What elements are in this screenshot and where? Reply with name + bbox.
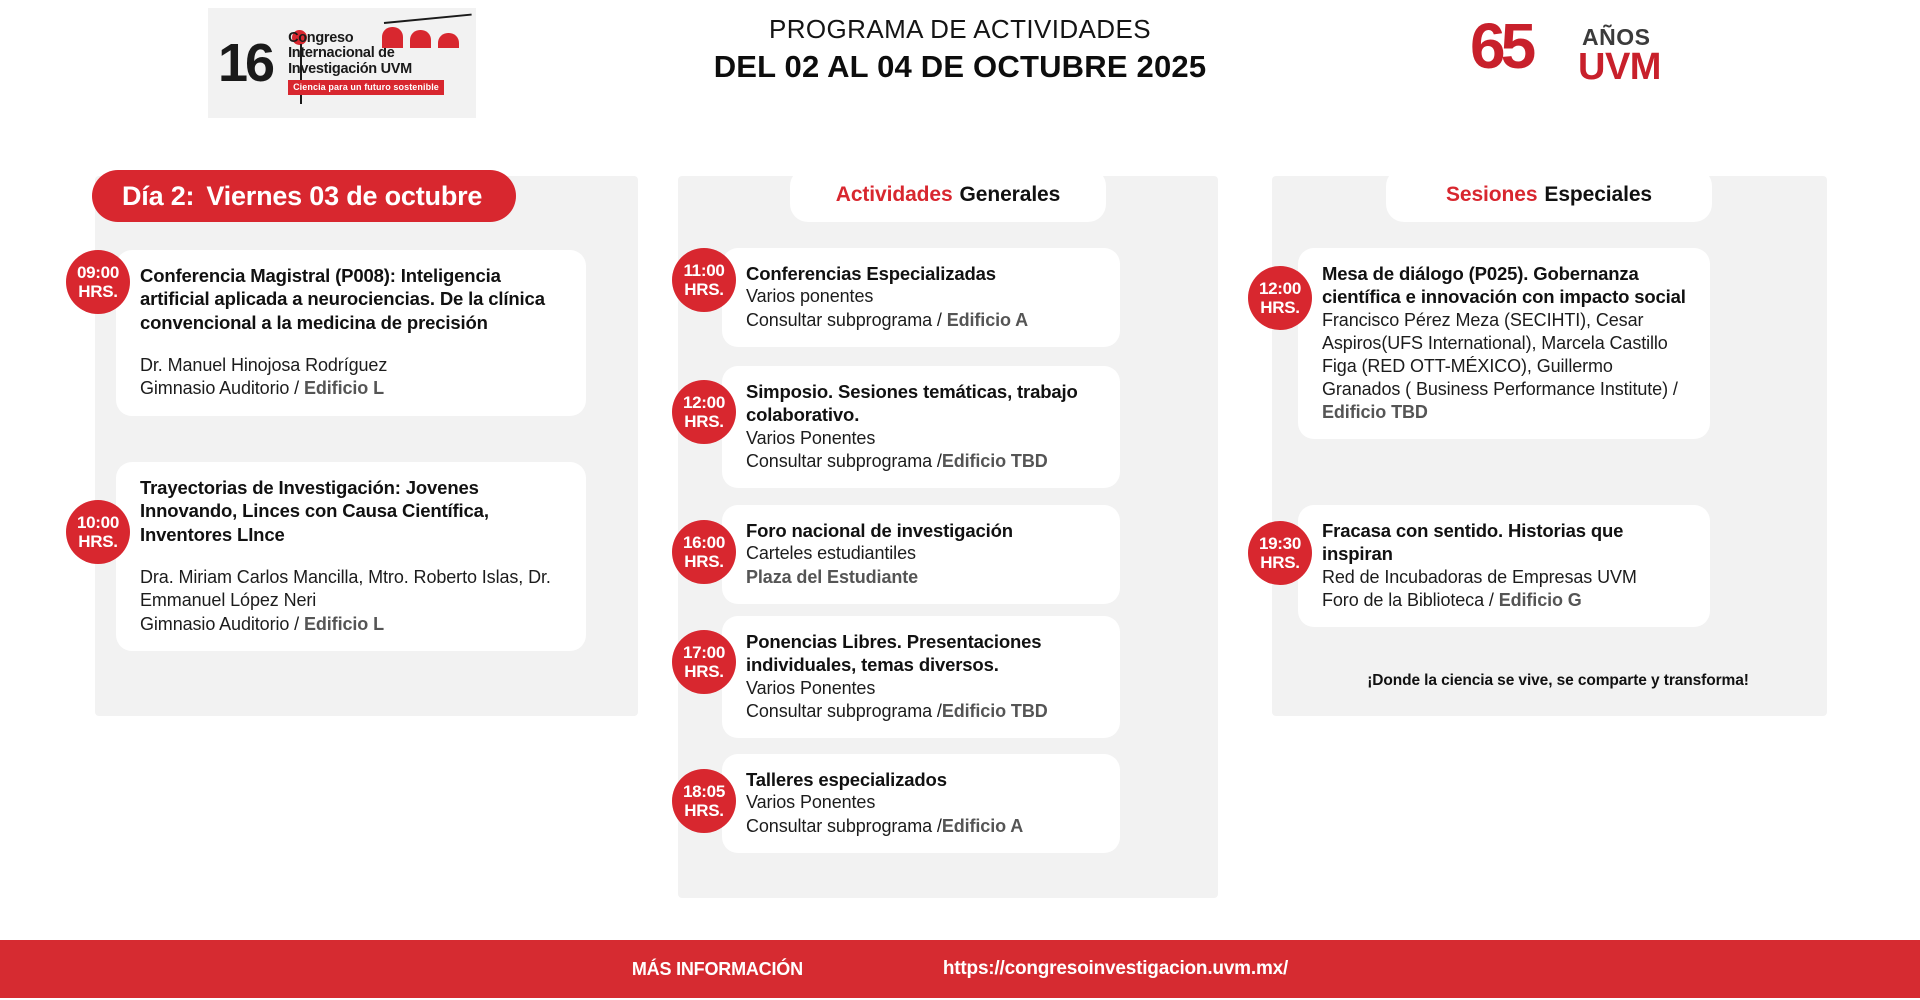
event-title: Fracasa con sentido. Historias que inspi… — [1322, 519, 1690, 566]
event-card: Mesa de diálogo (P025). Gobernanza cient… — [1298, 248, 1710, 439]
header: 16 Congreso Internacional de Investigaci… — [0, 0, 1920, 125]
event-speakers: Varios ponentes — [746, 285, 1100, 308]
time-badge-time: 19:30 — [1259, 534, 1301, 553]
time-badge: 12:00 HRS. — [672, 380, 736, 444]
time-badge-time: 12:00 — [1259, 279, 1301, 298]
anniversary-logo-number: 65 — [1470, 14, 1531, 78]
page-title-line-1: PROGRAMA DE ACTIVIDADES — [560, 14, 1360, 46]
anniversary-logo: 65 AÑOS UVM — [1470, 18, 1690, 98]
event-title: Mesa de diálogo (P025). Gobernanza cient… — [1322, 262, 1690, 309]
event-venue: Francisco Pérez Meza (SECIHTI), Cesar As… — [1322, 309, 1690, 424]
event-speakers: Red de Incubadoras de Empresas UVM — [1322, 566, 1690, 589]
time-badge-time: 10:00 — [77, 513, 119, 532]
footer-website-link[interactable]: https://congresoinvestigacion.uvm.mx/ — [943, 958, 1288, 980]
event-card: Talleres especializados Varios Ponentes … — [722, 754, 1120, 853]
event-venue-building: Edificio TBD — [942, 701, 1048, 721]
event-card: Fracasa con sentido. Historias que inspi… — [1298, 505, 1710, 627]
event-venue-plain: Consultar subprograma / — [746, 310, 947, 330]
event-venue-plain: Consultar subprograma / — [746, 701, 942, 721]
page-title: PROGRAMA DE ACTIVIDADES DEL 02 AL 04 DE … — [560, 14, 1360, 85]
congress-logo: 16 Congreso Internacional de Investigaci… — [208, 8, 476, 118]
time-badge-time: 17:00 — [683, 643, 725, 662]
event-row[interactable]: 16:00 HRS. Foro nacional de investigació… — [672, 505, 1120, 604]
heading-general-red: Actividades — [836, 183, 953, 207]
event-speakers: Carteles estudiantiles — [746, 542, 1100, 565]
event-card: Trayectorias de Investigación: Jovenes I… — [116, 462, 586, 651]
event-venue: Gimnasio Auditorio / Edificio L — [140, 377, 566, 400]
event-venue-building: Edificio TBD — [1322, 402, 1428, 422]
day-badge-label: Día 2: — [122, 181, 194, 212]
event-speakers: Dra. Miriam Carlos Mancilla, Mtro. Rober… — [140, 566, 566, 612]
event-title: Trayectorias de Investigación: Jovenes I… — [140, 476, 566, 546]
event-venue-plain: Gimnasio Auditorio / — [140, 378, 304, 398]
time-badge: 09:00 HRS. — [66, 250, 130, 314]
time-badge: 12:00 HRS. — [1248, 266, 1312, 330]
event-venue-building: Edificio L — [304, 614, 384, 634]
time-badge: 19:30 HRS. — [1248, 521, 1312, 585]
day-badge: Día 2: Viernes 03 de octubre — [92, 170, 516, 222]
event-venue-building: Plaza del Estudiante — [746, 567, 918, 587]
event-row[interactable]: 09:00 HRS. Conferencia Magistral (P008):… — [66, 250, 586, 416]
arches-icon — [382, 22, 468, 48]
special-sessions-tagline: ¡Donde la ciencia se vive, se comparte y… — [1318, 672, 1798, 690]
event-venue-plain: Consultar subprograma / — [746, 816, 942, 836]
congress-logo-line-2: Internacional de — [288, 46, 444, 61]
time-badge-unit: HRS. — [1260, 298, 1299, 317]
event-card: Conferencia Magistral (P008): Inteligenc… — [116, 250, 586, 416]
time-badge-time: 09:00 — [77, 263, 119, 282]
heading-special-black: Especiales — [1544, 183, 1652, 207]
event-title: Talleres especializados — [746, 768, 1100, 791]
heading-general-black: Generales — [960, 183, 1061, 207]
event-venue: Gimnasio Auditorio / Edificio L — [140, 613, 566, 636]
event-card: Ponencias Libres. Presentaciones individ… — [722, 616, 1120, 738]
time-badge-unit: HRS. — [684, 801, 723, 820]
event-venue-plain: Gimnasio Auditorio / — [140, 614, 304, 634]
day-badge-value: Viernes 03 de octubre — [206, 181, 482, 212]
event-card: Foro nacional de investigación Carteles … — [722, 505, 1120, 604]
anniversary-logo-institution: UVM — [1578, 46, 1661, 89]
event-venue-building: Edificio A — [942, 816, 1023, 836]
event-venue-building: Edificio G — [1499, 590, 1582, 610]
event-venue-plain: Consultar subprograma / — [746, 451, 942, 471]
event-row[interactable]: 12:00 HRS. Mesa de diálogo (P025). Gober… — [1248, 248, 1710, 439]
time-badge: 18:05 HRS. — [672, 769, 736, 833]
time-badge-unit: HRS. — [684, 552, 723, 571]
event-row[interactable]: 10:00 HRS. Trayectorias de Investigación… — [66, 462, 586, 651]
arch-icon-1 — [382, 27, 403, 48]
event-venue: Foro de la Biblioteca / Edificio G — [1322, 589, 1690, 612]
event-title: Foro nacional de investigación — [746, 519, 1100, 542]
event-title: Conferencias Especializadas — [746, 262, 1100, 285]
event-row[interactable]: 11:00 HRS. Conferencias Especializadas V… — [672, 248, 1120, 347]
arch-icon-2 — [410, 30, 431, 48]
event-title: Simposio. Sesiones temáticas, trabajo co… — [746, 380, 1100, 427]
event-row[interactable]: 17:00 HRS. Ponencias Libres. Presentacio… — [672, 616, 1120, 738]
program-poster: 16 Congreso Internacional de Investigaci… — [0, 0, 1920, 1000]
event-card: Conferencias Especializadas Varios ponen… — [722, 248, 1120, 347]
event-row[interactable]: 19:30 HRS. Fracasa con sentido. Historia… — [1248, 505, 1710, 627]
event-title: Ponencias Libres. Presentaciones individ… — [746, 630, 1100, 677]
time-badge-unit: HRS. — [1260, 553, 1299, 572]
footer-more-info-label: MÁS INFORMACIÓN — [632, 959, 803, 980]
event-row[interactable]: 12:00 HRS. Simposio. Sesiones temáticas,… — [672, 366, 1120, 488]
time-badge: 10:00 HRS. — [66, 500, 130, 564]
time-badge-unit: HRS. — [684, 280, 723, 299]
event-venue-building: Edificio L — [304, 378, 384, 398]
arch-icon-3 — [438, 33, 459, 48]
heading-special-red: Sesiones — [1446, 183, 1537, 207]
time-badge-unit: HRS. — [684, 412, 723, 431]
event-venue: Consultar subprograma /Edificio TBD — [746, 450, 1100, 473]
congress-logo-line-3: Investigación UVM — [288, 62, 444, 77]
event-venue-plain: Foro de la Biblioteca / — [1322, 590, 1499, 610]
heading-actividades-generales: Actividades Generales — [790, 168, 1106, 222]
footer-bar: MÁS INFORMACIÓN https://congresoinvestig… — [0, 940, 1920, 998]
event-row[interactable]: 18:05 HRS. Talleres especializados Vario… — [672, 754, 1120, 853]
time-badge: 16:00 HRS. — [672, 520, 736, 584]
event-card: Simposio. Sesiones temáticas, trabajo co… — [722, 366, 1120, 488]
event-venue: Consultar subprograma / Edificio A — [746, 309, 1100, 332]
event-speakers: Varios Ponentes — [746, 427, 1100, 450]
time-badge-time: 16:00 — [683, 533, 725, 552]
time-badge-unit: HRS. — [684, 662, 723, 681]
page-title-line-2: DEL 02 AL 04 DE OCTUBRE 2025 — [560, 48, 1360, 85]
congress-logo-number: 16 — [218, 36, 272, 90]
event-speakers: Varios Ponentes — [746, 791, 1100, 814]
arch-bar-icon — [384, 14, 472, 24]
event-venue-building: Edificio TBD — [942, 451, 1048, 471]
heading-sesiones-especiales: Sesiones Especiales — [1386, 168, 1712, 222]
time-badge-time: 12:00 — [683, 393, 725, 412]
time-badge: 17:00 HRS. — [672, 630, 736, 694]
time-badge-time: 11:00 — [683, 261, 724, 280]
event-venue-building: Edificio A — [947, 310, 1028, 330]
event-title: Conferencia Magistral (P008): Inteligenc… — [140, 264, 566, 334]
event-speakers: Dr. Manuel Hinojosa Rodríguez — [140, 354, 566, 377]
congress-logo-tagline: Ciencia para un futuro sostenible — [288, 80, 444, 95]
event-venue: Consultar subprograma /Edificio TBD — [746, 700, 1100, 723]
event-speakers: Varios Ponentes — [746, 677, 1100, 700]
time-badge-unit: HRS. — [78, 532, 117, 551]
event-speakers: Francisco Pérez Meza (SECIHTI), Cesar As… — [1322, 310, 1678, 399]
event-venue: Consultar subprograma /Edificio A — [746, 815, 1100, 838]
event-venue: Plaza del Estudiante — [746, 566, 1100, 589]
time-badge-unit: HRS. — [78, 282, 117, 301]
time-badge-time: 18:05 — [683, 782, 725, 801]
time-badge: 11:00 HRS. — [672, 248, 736, 312]
